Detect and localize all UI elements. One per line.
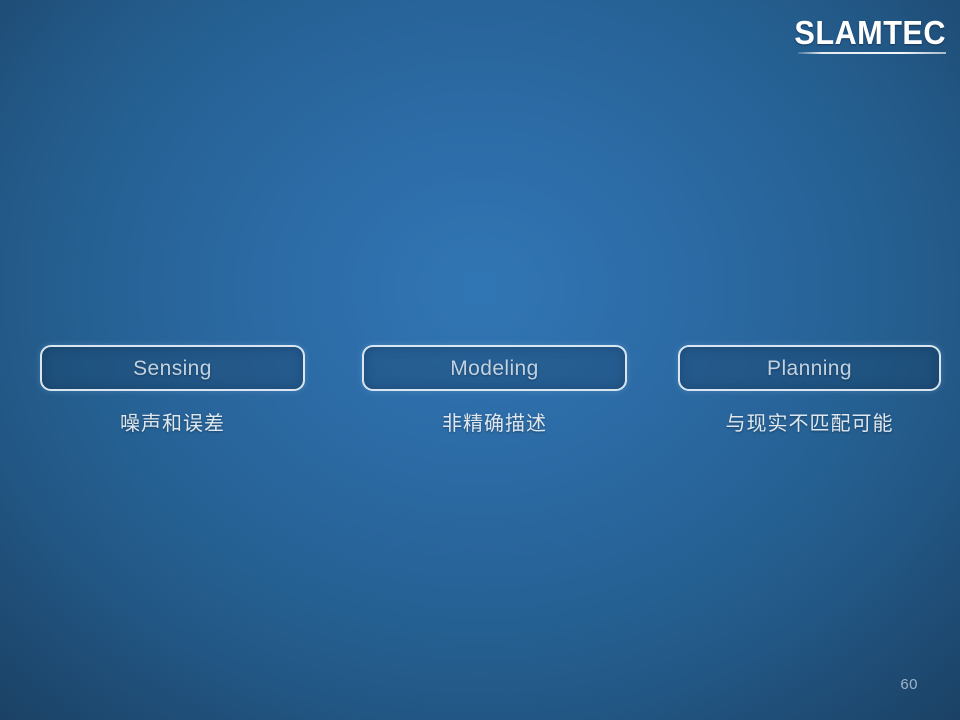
stage-label-planning: Planning xyxy=(767,358,852,379)
slamtec-logo: SLAMTEC xyxy=(783,16,946,54)
stage-label-modeling: Modeling xyxy=(450,358,538,379)
stage-label-sensing: Sensing xyxy=(133,358,212,379)
slamtec-logo-wordmark: SLAMTEC xyxy=(794,16,946,49)
stage-box-modeling: Modeling xyxy=(362,345,627,391)
pipeline-stage-row: Sensing 噪声和误差 Modeling 非精确描述 Planning 与现… xyxy=(0,345,960,433)
stage-box-sensing: Sensing xyxy=(40,345,305,391)
stage-caption-modeling: 非精确描述 xyxy=(442,413,547,433)
presentation-slide: SLAMTEC Sensing 噪声和误差 Modeling 非精确描述 Pla… xyxy=(0,0,960,720)
pipeline-stage-planning: Planning 与现实不匹配可能 xyxy=(678,345,941,433)
pipeline-stage-sensing: Sensing 噪声和误差 xyxy=(40,345,305,433)
stage-caption-planning: 与现实不匹配可能 xyxy=(726,413,894,433)
stage-box-planning: Planning xyxy=(678,345,941,391)
slamtec-logo-underline xyxy=(798,52,946,54)
stage-caption-sensing: 噪声和误差 xyxy=(120,413,225,433)
slide-page-number: 60 xyxy=(900,676,918,693)
pipeline-stage-modeling: Modeling 非精确描述 xyxy=(362,345,627,433)
